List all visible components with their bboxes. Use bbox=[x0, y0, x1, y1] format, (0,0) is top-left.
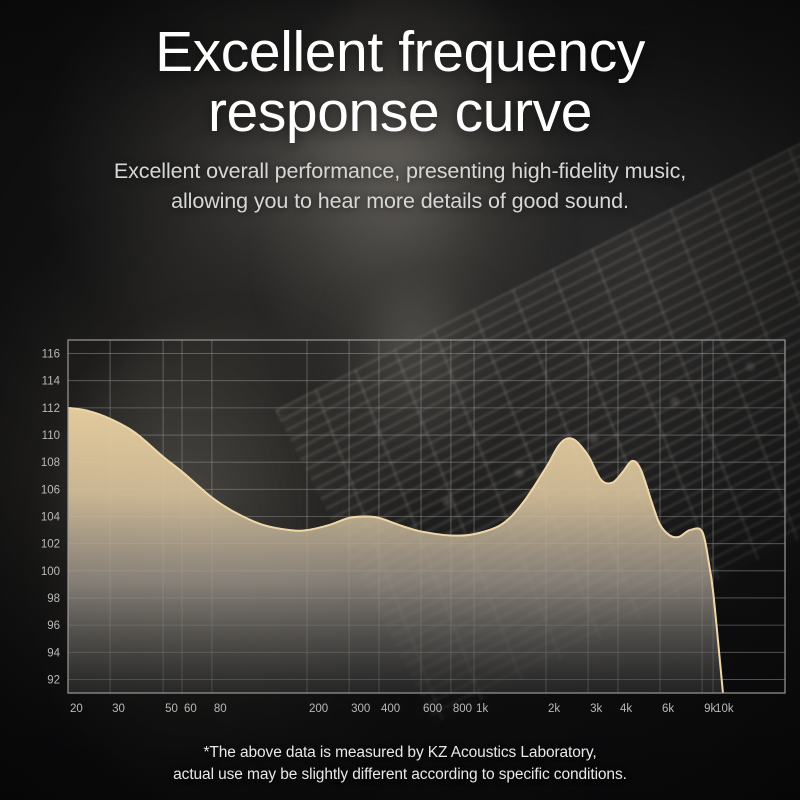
x-axis-tick-label: 4k bbox=[620, 703, 632, 715]
page-subtitle: Excellent overall performance, presentin… bbox=[18, 156, 782, 216]
x-axis-tick-label: 60 bbox=[184, 703, 197, 715]
x-axis-tick-label: 3k bbox=[590, 703, 602, 715]
y-axis-tick-label: 112 bbox=[42, 403, 60, 415]
chart-svg: 11611411211010810610410210098969492 2030… bbox=[0, 326, 800, 726]
chart-x-axis-ticks: 20305060802003004006008001k2k3k4k6k9k10k bbox=[70, 703, 734, 715]
x-axis-tick-label: 20 bbox=[70, 703, 83, 715]
x-axis-tick-label: 400 bbox=[381, 703, 400, 715]
y-axis-tick-label: 114 bbox=[42, 376, 61, 388]
y-axis-tick-label: 108 bbox=[41, 457, 60, 469]
frequency-response-chart: 11611411211010810610410210098969492 2030… bbox=[0, 326, 800, 726]
y-axis-tick-label: 98 bbox=[47, 593, 60, 605]
y-axis-tick-label: 102 bbox=[41, 539, 60, 551]
x-axis-tick-label: 200 bbox=[309, 703, 328, 715]
y-axis-tick-label: 104 bbox=[41, 512, 61, 524]
header-block: Excellent frequency response curve Excel… bbox=[0, 0, 800, 216]
chart-y-axis-ticks: 11611411211010810610410210098969492 bbox=[41, 349, 61, 687]
x-axis-tick-label: 2k bbox=[548, 703, 560, 715]
x-axis-tick-label: 50 bbox=[165, 703, 178, 715]
chart-area-fill bbox=[68, 408, 723, 699]
y-axis-tick-label: 110 bbox=[42, 430, 60, 442]
promo-page: Excellent frequency response curve Excel… bbox=[0, 0, 800, 800]
x-axis-tick-label: 30 bbox=[112, 703, 125, 715]
x-axis-tick-label: 1k bbox=[476, 703, 488, 715]
x-axis-tick-label: 300 bbox=[351, 703, 370, 715]
x-axis-tick-label: 10k bbox=[715, 703, 734, 715]
y-axis-tick-label: 116 bbox=[42, 349, 60, 361]
x-axis-tick-label: 800 bbox=[453, 703, 472, 715]
y-axis-tick-label: 94 bbox=[47, 647, 60, 659]
x-axis-tick-label: 6k bbox=[662, 703, 674, 715]
x-axis-tick-label: 600 bbox=[423, 703, 442, 715]
x-axis-tick-label: 80 bbox=[214, 703, 227, 715]
y-axis-tick-label: 106 bbox=[41, 484, 60, 496]
page-title: Excellent frequency response curve bbox=[24, 22, 776, 142]
y-axis-tick-label: 96 bbox=[47, 620, 60, 632]
y-axis-tick-label: 100 bbox=[41, 566, 60, 578]
y-axis-tick-label: 92 bbox=[47, 674, 60, 686]
chart-footnote: *The above data is measured by KZ Acoust… bbox=[0, 742, 800, 786]
